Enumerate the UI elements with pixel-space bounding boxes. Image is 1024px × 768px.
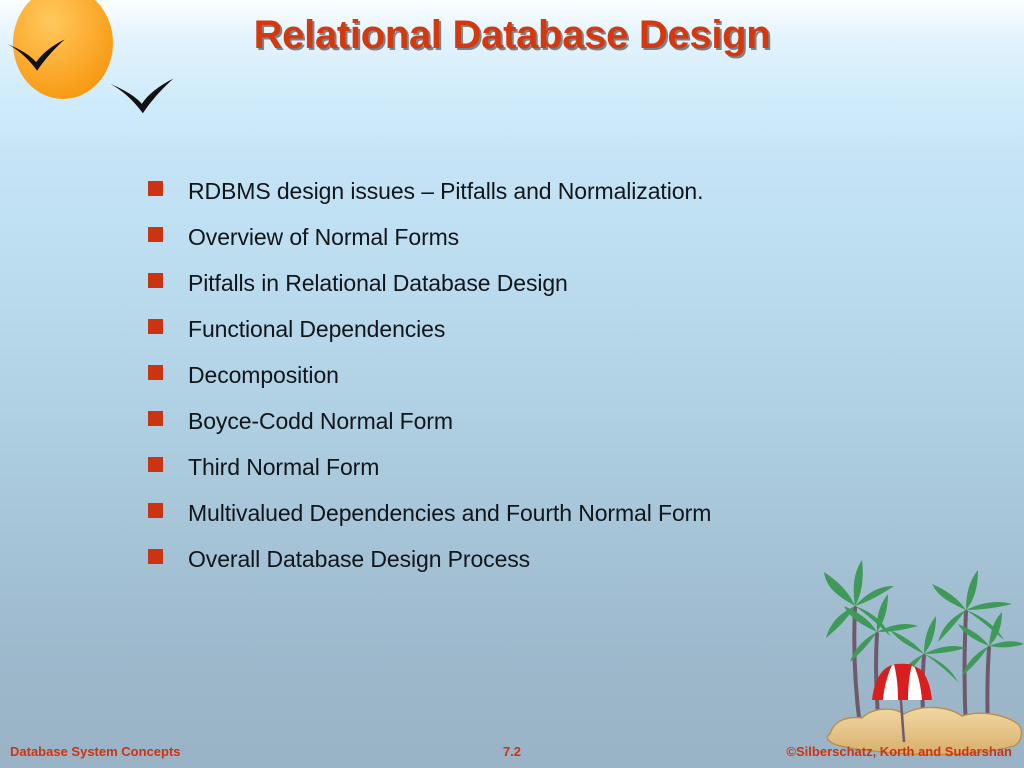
list-item-label: Functional Dependencies (188, 316, 445, 342)
list-item: Multivalued Dependencies and Fourth Norm… (148, 490, 948, 536)
list-item: RDBMS design issues – Pitfalls and Norma… (148, 168, 948, 214)
list-item: Third Normal Form (148, 444, 948, 490)
list-item: Boyce-Codd Normal Form (148, 398, 948, 444)
square-bullet-icon (148, 181, 163, 196)
square-bullet-icon (148, 503, 163, 518)
list-item: Decomposition (148, 352, 948, 398)
title-area: Relational Database Design (0, 12, 1024, 58)
bullet-list: RDBMS design issues – Pitfalls and Norma… (148, 168, 948, 582)
list-item-label: Decomposition (188, 362, 339, 388)
square-bullet-icon (148, 457, 163, 472)
square-bullet-icon (148, 411, 163, 426)
list-item: Pitfalls in Relational Database Design (148, 260, 948, 306)
list-item-label: RDBMS design issues – Pitfalls and Norma… (188, 178, 703, 204)
slide-canvas: Relational Database Design RDBMS design … (0, 0, 1024, 768)
footer: Database System Concepts 7.2 ©Silberscha… (0, 736, 1024, 768)
beach-umbrella-icon (872, 664, 932, 742)
square-bullet-icon (148, 549, 163, 564)
square-bullet-icon (148, 227, 163, 242)
square-bullet-icon (148, 319, 163, 334)
list-item: Functional Dependencies (148, 306, 948, 352)
palm-trunk (854, 608, 989, 734)
square-bullet-icon (148, 365, 163, 380)
list-item-label: Overview of Normal Forms (188, 224, 459, 250)
list-item: Overview of Normal Forms (148, 214, 948, 260)
square-bullet-icon (148, 273, 163, 288)
bird-icon (110, 79, 173, 114)
list-item-label: Multivalued Dependencies and Fourth Norm… (188, 500, 711, 526)
list-item-label: Overall Database Design Process (188, 546, 530, 572)
list-item-label: Boyce-Codd Normal Form (188, 408, 453, 434)
list-item: Overall Database Design Process (148, 536, 948, 582)
footer-copyright: ©Silberschatz, Korth and Sudarshan (786, 744, 1012, 759)
list-item-label: Pitfalls in Relational Database Design (188, 270, 568, 296)
list-item-label: Third Normal Form (188, 454, 379, 480)
page-title: Relational Database Design (254, 12, 771, 58)
